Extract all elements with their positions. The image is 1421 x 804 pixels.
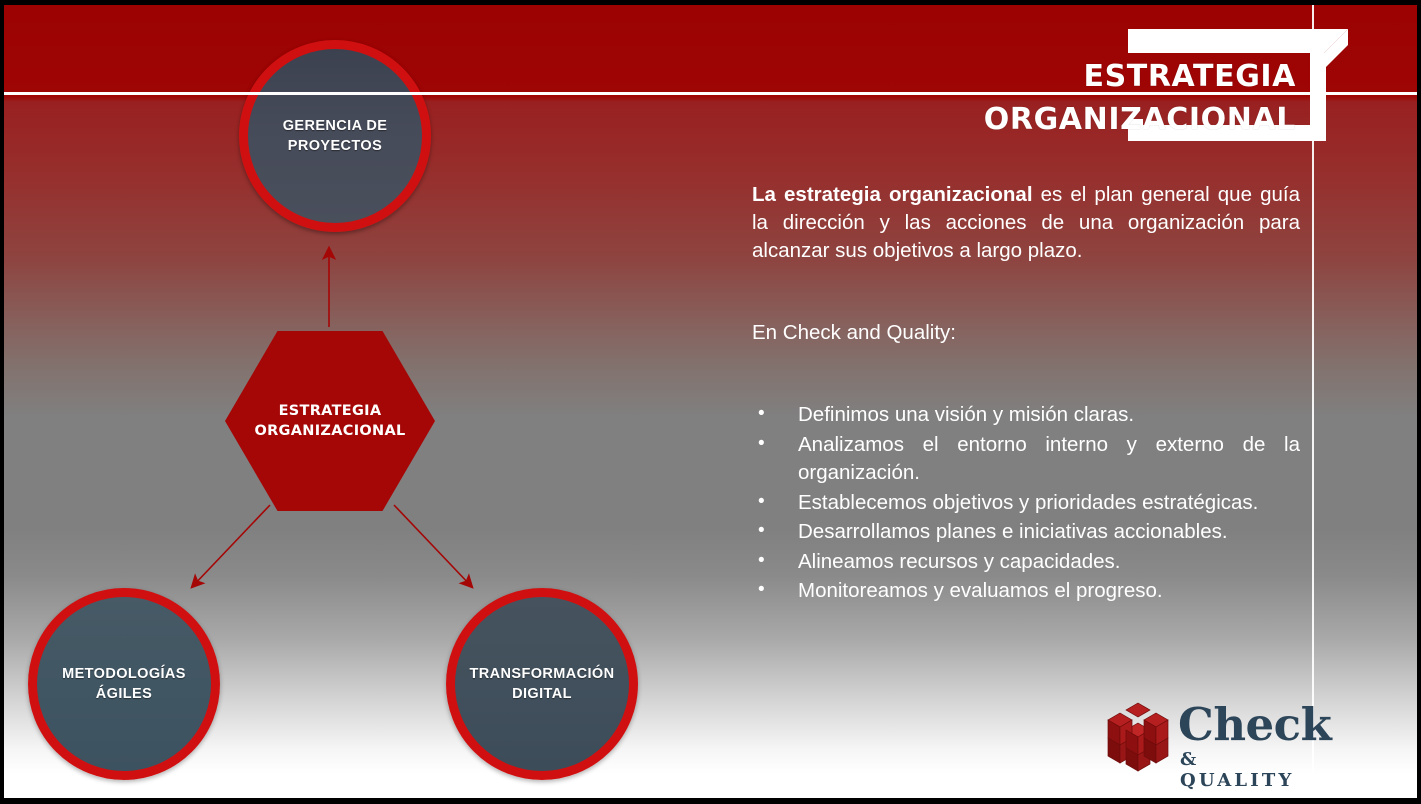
list-item-label: Alineamos recursos y capacidades.: [798, 548, 1300, 577]
arrow-to-metodologias: [192, 505, 270, 587]
node-transformacion-line1: TRANSFORMACIÓN: [470, 666, 615, 682]
intro-paragraph: La estrategia organizacional es el plan …: [752, 181, 1300, 265]
node-transformacion-line2: DIGITAL: [512, 686, 572, 702]
node-hex-line2: ORGANIZACIONAL: [254, 423, 405, 439]
list-item: Analizamos el entorno interno y externo …: [752, 431, 1300, 488]
node-metodologias-agiles[interactable]: METODOLOGÍAS ÁGILES: [28, 588, 220, 780]
node-gerencia-line1: GERENCIA DE: [283, 118, 388, 134]
slide-canvas: ESTRATEGIA ORGANIZACIONAL La estrategia …: [4, 5, 1417, 798]
list-item: Definimos una visión y misión claras.: [752, 401, 1300, 430]
bullet-list: Definimos una visión y misión claras. An…: [752, 401, 1300, 606]
right-vertical-divider: [1312, 5, 1314, 798]
page-title-line2: ORGANIZACIONAL: [776, 98, 1296, 141]
logo-wordmark: Check: [1178, 702, 1331, 748]
page-title: ESTRATEGIA ORGANIZACIONAL: [776, 55, 1296, 141]
node-metodologias-line2: ÁGILES: [96, 686, 152, 702]
subheading: En Check and Quality:: [752, 319, 1300, 347]
content-column: La estrategia organizacional es el plan …: [752, 181, 1300, 607]
list-item: Desarrollamos planes e iniciativas accio…: [752, 518, 1300, 547]
cube-logo-icon: [1100, 699, 1176, 775]
list-item: Monitoreamos y evaluamos el progreso.: [752, 577, 1300, 606]
list-item-label: Desarrollamos planes e iniciativas accio…: [798, 518, 1300, 547]
logo-tagline: & QUALITY: [1180, 749, 1308, 791]
list-item: Alineamos recursos y capacidades.: [752, 548, 1300, 577]
list-item-label: Monitoreamos y evaluamos el progreso.: [798, 577, 1300, 606]
node-metodologias-line1: METODOLOGÍAS: [62, 666, 186, 682]
intro-paragraph-bold: La estrategia organizacional: [752, 183, 1033, 206]
arrow-to-transformacion: [394, 505, 472, 587]
page-title-line1: ESTRATEGIA: [1083, 59, 1296, 94]
node-gerencia-de-proyectos[interactable]: GERENCIA DE PROYECTOS: [239, 40, 431, 232]
list-item-label: Analizamos el entorno interno y externo …: [798, 431, 1300, 488]
list-item-label: Definimos una visión y misión claras.: [798, 401, 1300, 430]
node-hex-line1: ESTRATEGIA: [279, 403, 382, 419]
node-gerencia-line2: PROYECTOS: [288, 138, 382, 154]
node-transformacion-digital[interactable]: TRANSFORMACIÓN DIGITAL: [446, 588, 638, 780]
list-item-label: Establecemos objetivos y prioridades est…: [798, 489, 1300, 518]
slide-root: ESTRATEGIA ORGANIZACIONAL La estrategia …: [0, 0, 1421, 804]
list-item: Establecemos objetivos y prioridades est…: [752, 489, 1300, 518]
brand-logo: Check & QUALITY: [1100, 699, 1308, 777]
